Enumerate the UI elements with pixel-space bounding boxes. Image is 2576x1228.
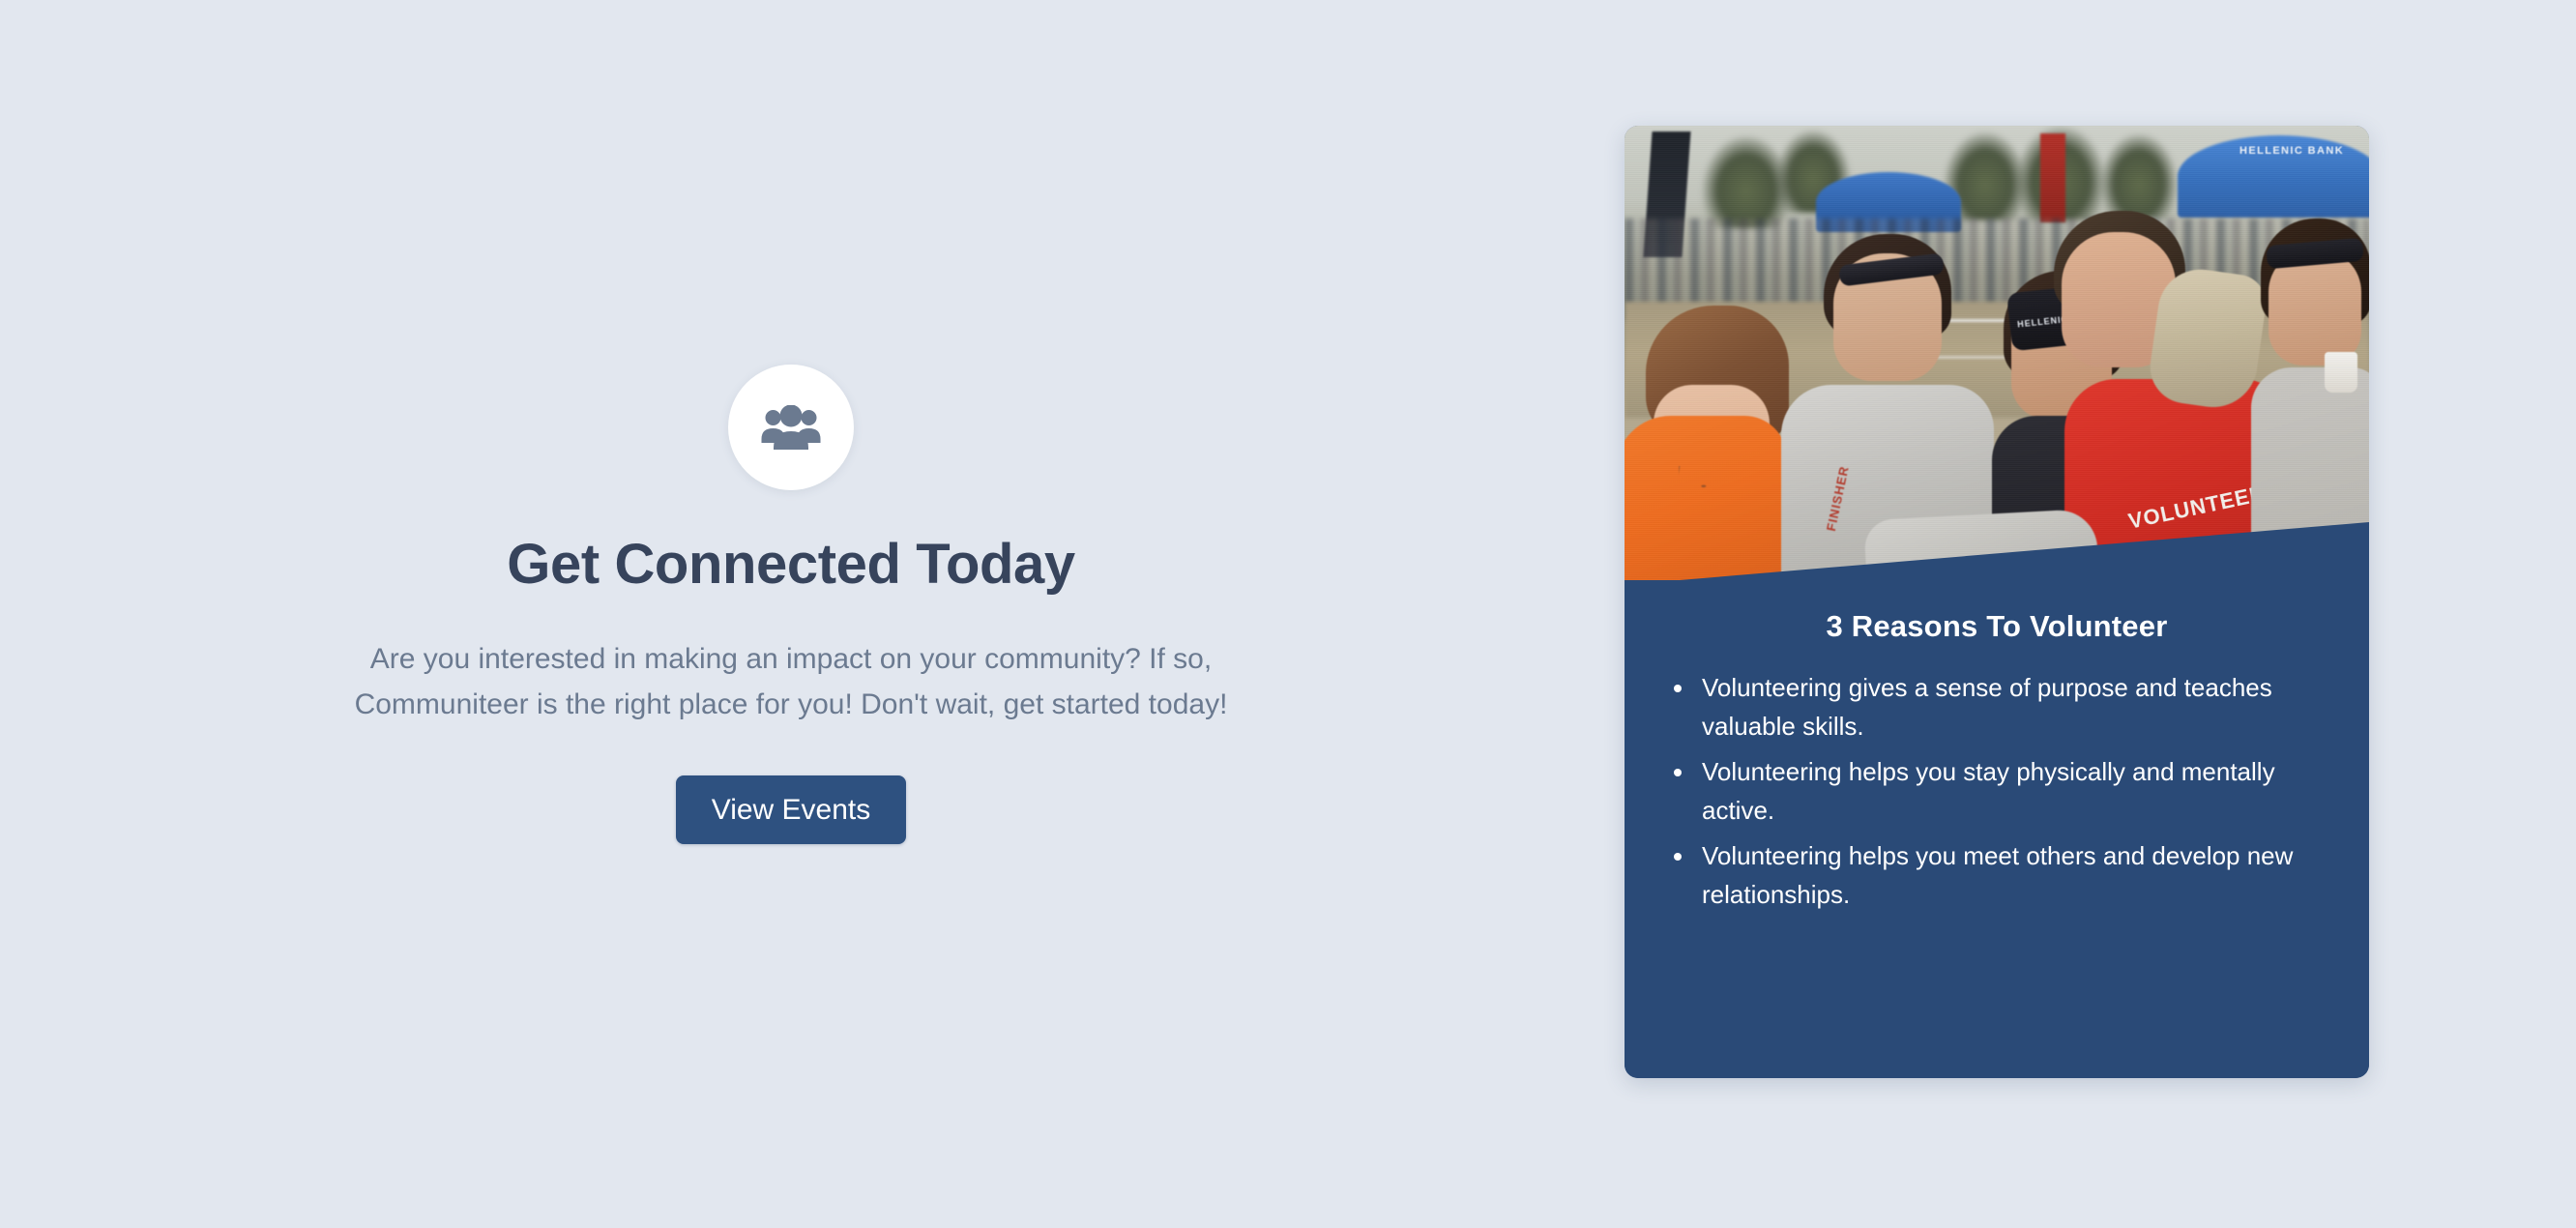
paper-cup (2325, 352, 2357, 393)
people-group-icon-badge (728, 365, 854, 490)
cta-content: Get Connected Today Are you interested i… (307, 365, 1274, 845)
list-item: Volunteering helps you meet others and d… (1696, 837, 2325, 914)
page-root: Get Connected Today Are you interested i… (0, 0, 2576, 1228)
palm-tree (2100, 133, 2178, 219)
arm-tattoo (1679, 466, 1762, 516)
card-title: 3 Reasons To Volunteer (1625, 609, 2369, 644)
event-banner-red (2040, 133, 2065, 222)
list-item: Volunteering helps you stay physically a… (1696, 753, 2325, 830)
view-events-button[interactable]: View Events (676, 775, 907, 844)
cta-description: Are you interested in making an impact o… (312, 636, 1270, 728)
reasons-list: Volunteering gives a sense of purpose an… (1625, 669, 2369, 914)
reasons-to-volunteer-card[interactable]: HELLENIC BANK FINISHER HELLENIC BANK VOL… (1625, 126, 2369, 1078)
cta-panel: Get Connected Today Are you interested i… (0, 0, 1582, 1228)
tent-sponsor-label: HELLENIC BANK (2239, 145, 2344, 157)
card-body: 3 Reasons To Volunteer Volunteering give… (1625, 580, 2369, 1078)
page-title: Get Connected Today (507, 534, 1075, 596)
people-group-icon (761, 405, 821, 450)
list-item: Volunteering gives a sense of purpose an… (1696, 669, 2325, 746)
volunteer-event-photo: HELLENIC BANK FINISHER HELLENIC BANK VOL… (1625, 126, 2369, 580)
